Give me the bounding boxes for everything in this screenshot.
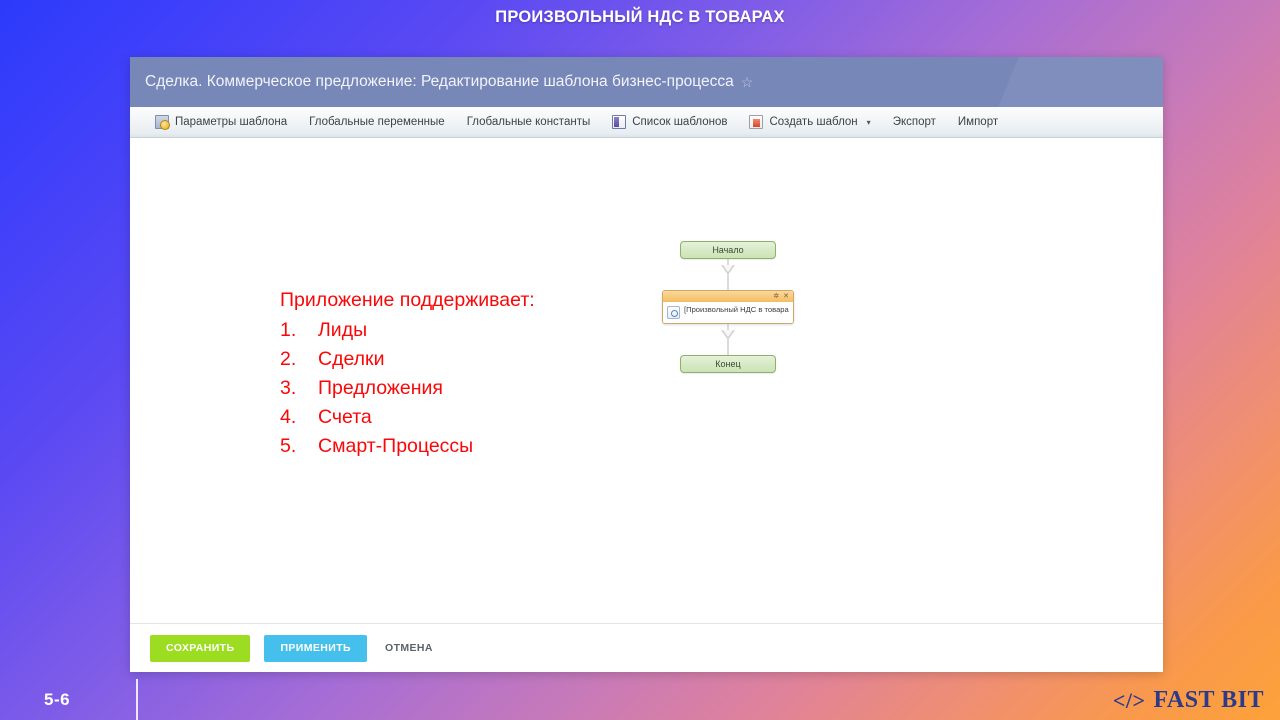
toolbar-label: Глобальные переменные [309, 116, 445, 128]
toolbar-label: Глобальные константы [467, 116, 591, 128]
flow-node-start-label: Начало [712, 245, 743, 255]
toolbar-item-export[interactable]: Экспорт [882, 107, 947, 137]
arrow-down-icon [721, 265, 735, 275]
list-item: 5. Смарт-Процессы [280, 432, 535, 461]
list-item-number: 4. [280, 403, 318, 432]
list-item-label: Сделки [318, 345, 384, 374]
toolbar-item-template-params[interactable]: Параметры шаблона [144, 107, 298, 137]
list-item-number: 1. [280, 316, 318, 345]
flowchart: Начало ✲ ✕ [Произвольный НДС в товарах] … [638, 241, 818, 373]
apply-button[interactable]: ПРИМЕНИТЬ [264, 635, 367, 662]
create-template-icon [749, 115, 763, 129]
list-item: 4. Счета [280, 403, 535, 432]
slide-footer: 5-6 </> FAST BIT [0, 678, 1280, 720]
flowchart-row-end: Конец [638, 355, 818, 373]
flowchart-row-task: ✲ ✕ [Произвольный НДС в товарах] Изменит… [638, 290, 818, 324]
footer-divider [136, 679, 138, 720]
toolbar-item-global-constants[interactable]: Глобальные константы [456, 107, 602, 137]
toolbar-label: Импорт [958, 116, 998, 128]
code-brackets-icon: </> [1113, 688, 1146, 714]
app-window: Сделка. Коммерческое предложение: Редакт… [130, 57, 1163, 672]
template-params-icon [155, 115, 169, 129]
list-item: 2. Сделки [280, 345, 535, 374]
flow-node-task-body: [Произвольный НДС в товарах] Изменить на… [663, 302, 793, 323]
flow-node-task-header: ✲ ✕ [663, 291, 793, 302]
toolbar-item-import[interactable]: Импорт [947, 107, 1009, 137]
chevron-down-icon: ▾ [867, 118, 871, 127]
page-title: Сделка. Коммерческое предложение: Редакт… [145, 73, 734, 91]
star-outline-icon[interactable]: ☆ [741, 74, 754, 91]
flow-connector-top [638, 259, 818, 290]
toolbar-label: Список шаблонов [632, 116, 727, 128]
list-item-number: 2. [280, 345, 318, 374]
gear-icon[interactable]: ✲ [773, 293, 779, 300]
template-list-icon [612, 115, 626, 129]
toolbar-label: Создать шаблон [769, 116, 857, 128]
window-title-bar: Сделка. Коммерческое предложение: Редакт… [130, 57, 1163, 107]
list-item-number: 3. [280, 374, 318, 403]
window-action-bar: СОХРАНИТЬ ПРИМЕНИТЬ ОТМЕНА [130, 623, 1163, 672]
flow-node-task[interactable]: ✲ ✕ [Произвольный НДС в товарах] Изменит… [662, 290, 794, 324]
toolbar-label: Экспорт [893, 116, 936, 128]
annotation-block: Приложение поддерживает: 1. Лиды 2. Сдел… [280, 286, 535, 461]
cancel-button[interactable]: ОТМЕНА [381, 635, 437, 662]
list-item: 1. Лиды [280, 316, 535, 345]
workflow-canvas[interactable]: Приложение поддерживает: 1. Лиды 2. Сдел… [130, 138, 1163, 623]
save-button[interactable]: СОХРАНИТЬ [150, 635, 250, 662]
toolbar-item-create-template[interactable]: Создать шаблон ▾ [738, 107, 881, 137]
list-item-label: Счета [318, 403, 372, 432]
brand-logo: </> FAST BIT [1113, 687, 1264, 714]
slide-title: ПРОИЗВОЛЬНЫЙ НДС В ТОВАРАХ [0, 0, 1280, 34]
toolbar-item-global-variables[interactable]: Глобальные переменные [298, 107, 456, 137]
annotation-list: 1. Лиды 2. Сделки 3. Предложения 4. Счет… [280, 316, 535, 461]
annotation-heading: Приложение поддерживает: [280, 286, 535, 315]
list-item-label: Предложения [318, 374, 443, 403]
toolbar-item-template-list[interactable]: Список шаблонов [601, 107, 738, 137]
flow-node-end[interactable]: Конец [680, 355, 776, 373]
flow-node-task-label: [Произвольный НДС в товарах] Изменить на… [684, 305, 789, 315]
list-item: 3. Предложения [280, 374, 535, 403]
activity-icon [667, 306, 680, 319]
list-item-number: 5. [280, 432, 318, 461]
flow-node-end-label: Конец [715, 359, 740, 369]
flow-connector-bottom [638, 324, 818, 355]
toolbar: Параметры шаблона Глобальные переменные … [130, 107, 1163, 138]
list-item-label: Смарт-Процессы [318, 432, 473, 461]
arrow-down-icon [721, 330, 735, 340]
close-icon[interactable]: ✕ [783, 293, 789, 300]
toolbar-label: Параметры шаблона [175, 116, 287, 128]
page-number: 5-6 [44, 690, 70, 710]
brand-name: FAST BIT [1154, 687, 1265, 714]
list-item-label: Лиды [318, 316, 367, 345]
flow-node-start[interactable]: Начало [680, 241, 776, 259]
flowchart-row-start: Начало [638, 241, 818, 259]
